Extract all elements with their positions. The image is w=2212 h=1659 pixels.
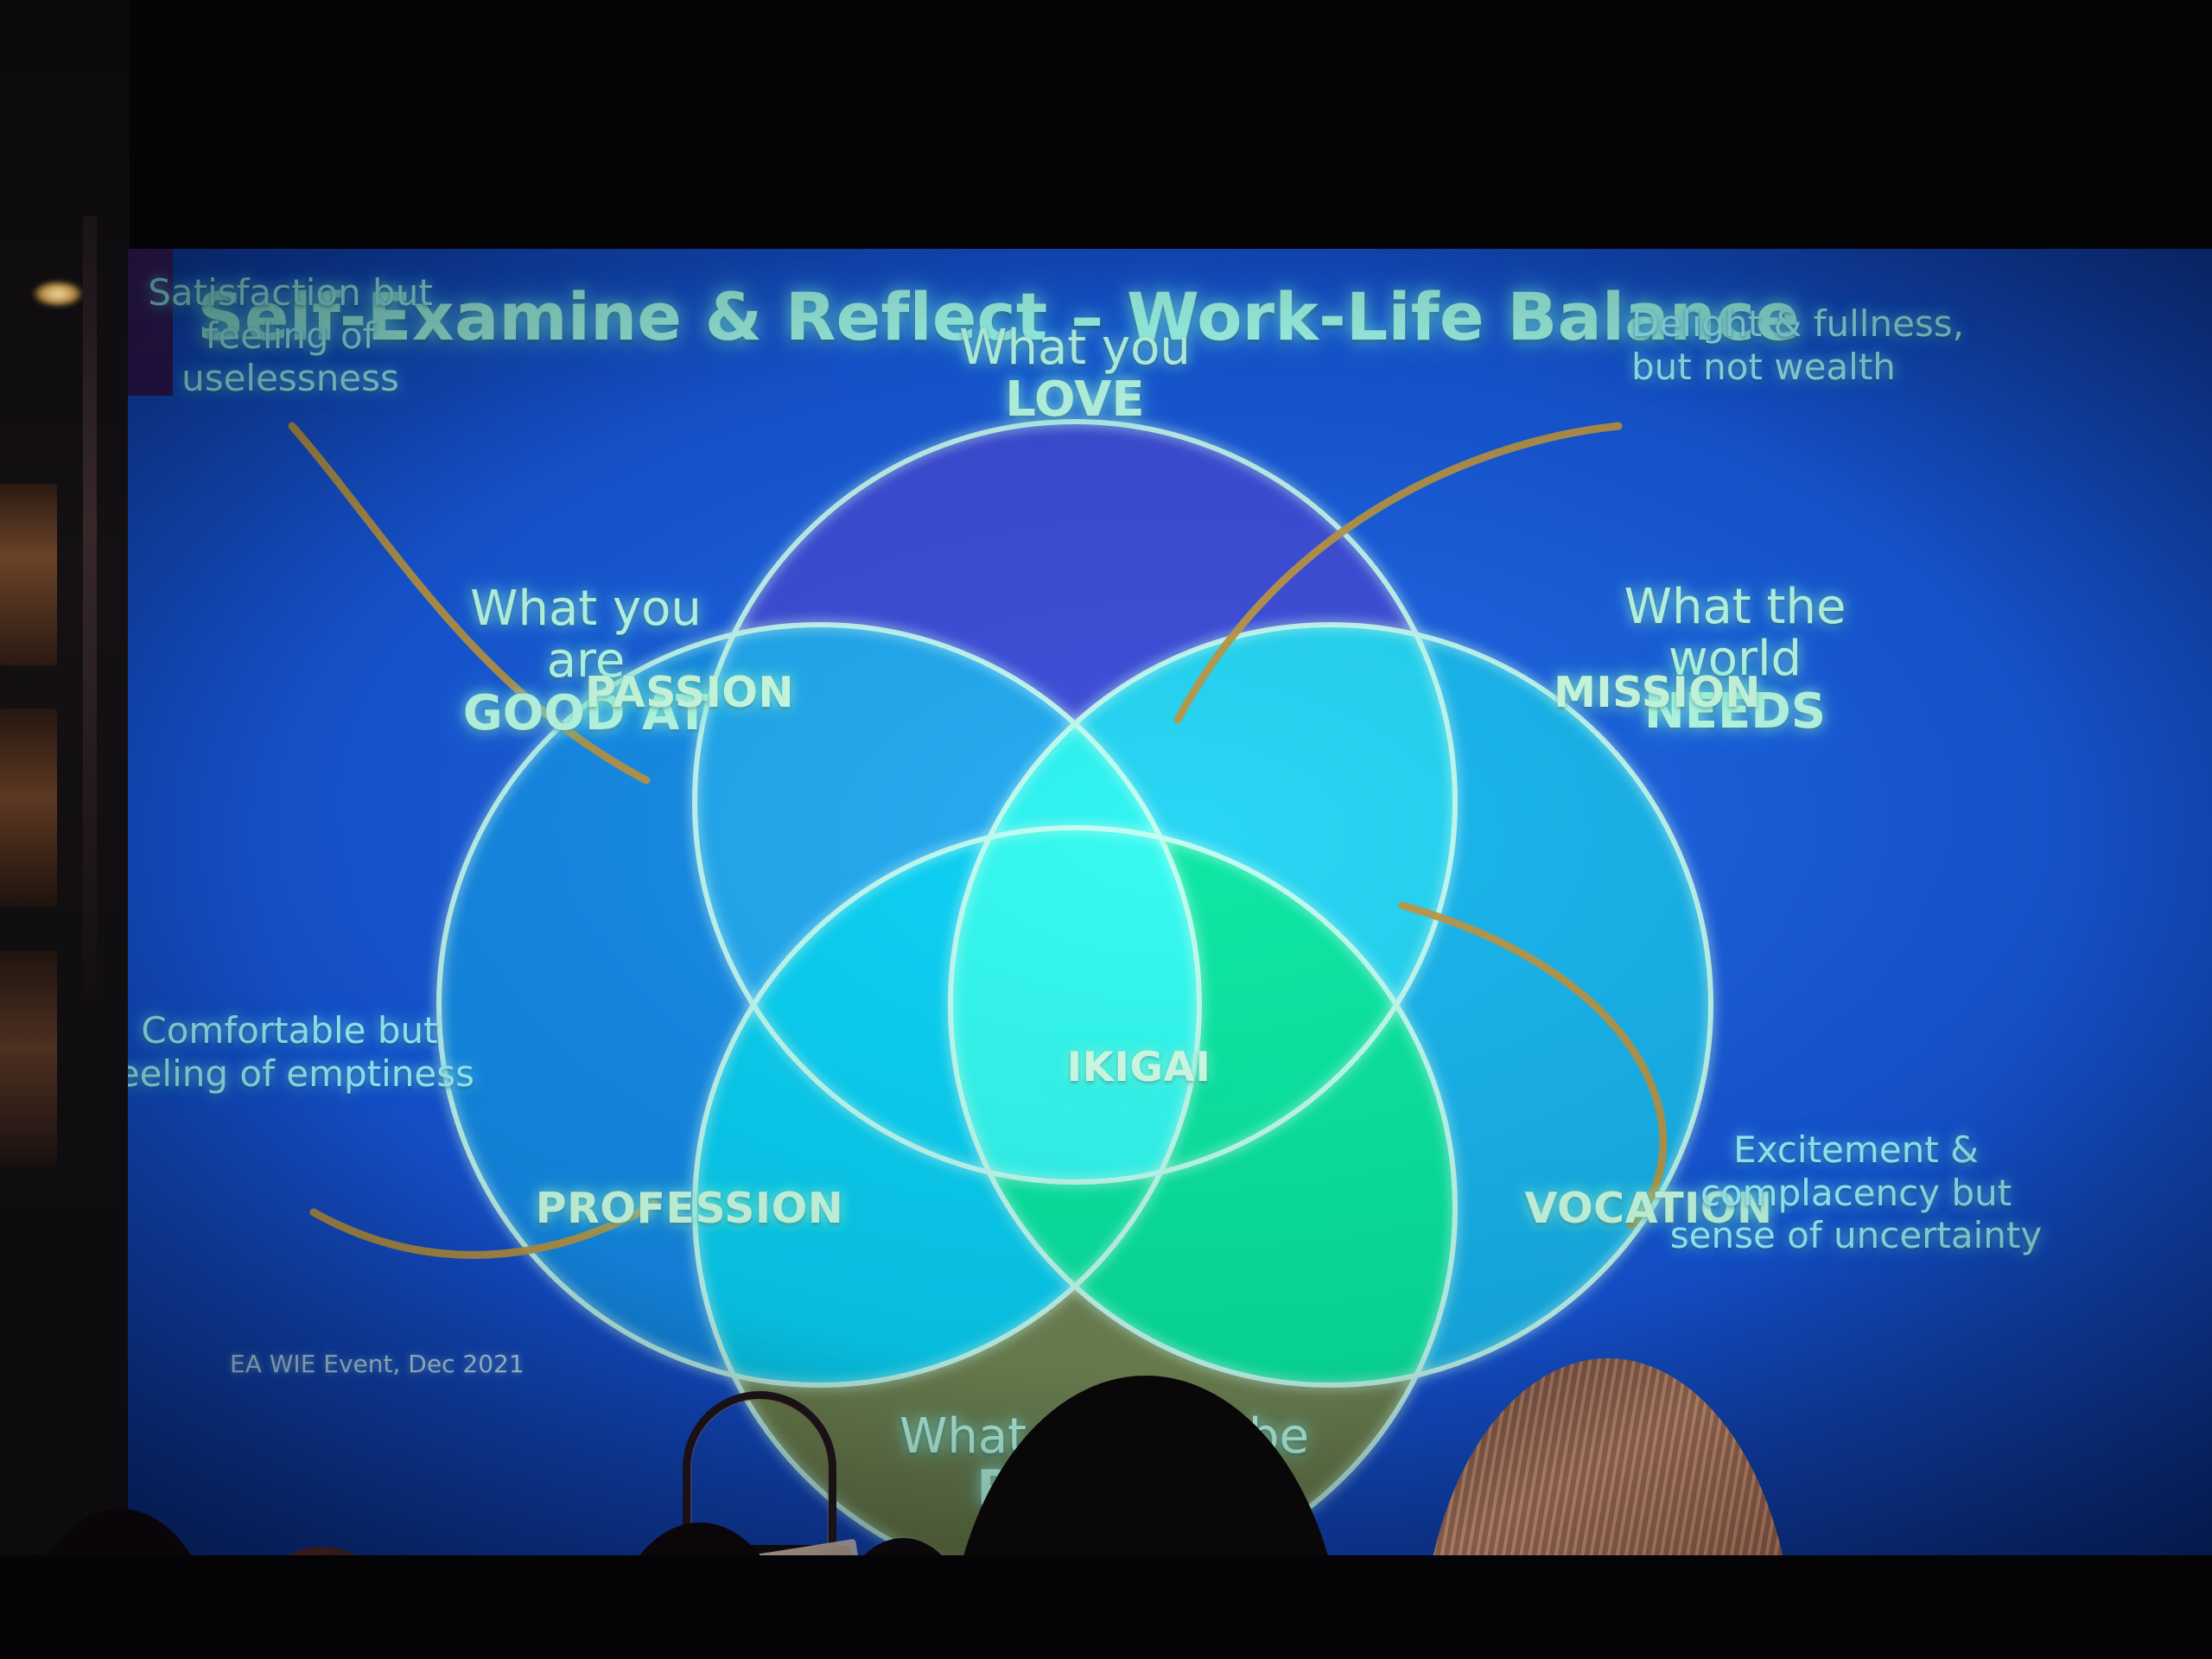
- presentation-slide: Self-Examine & Reflect – Work-Life Balan…: [128, 249, 2212, 1555]
- wall-panel: [0, 709, 57, 907]
- wall-panel: [0, 484, 57, 665]
- wall-panel: [0, 950, 57, 1166]
- wall-lamp-light: [33, 281, 83, 307]
- photo-of-projected-slide: Self-Examine & Reflect – Work-Life Balan…: [0, 0, 2212, 1659]
- wall-edge: [83, 216, 97, 994]
- slide-footer-note: EA WIE Event, Dec 2021: [230, 1350, 524, 1378]
- foreground-dark-band: [0, 1555, 2212, 1659]
